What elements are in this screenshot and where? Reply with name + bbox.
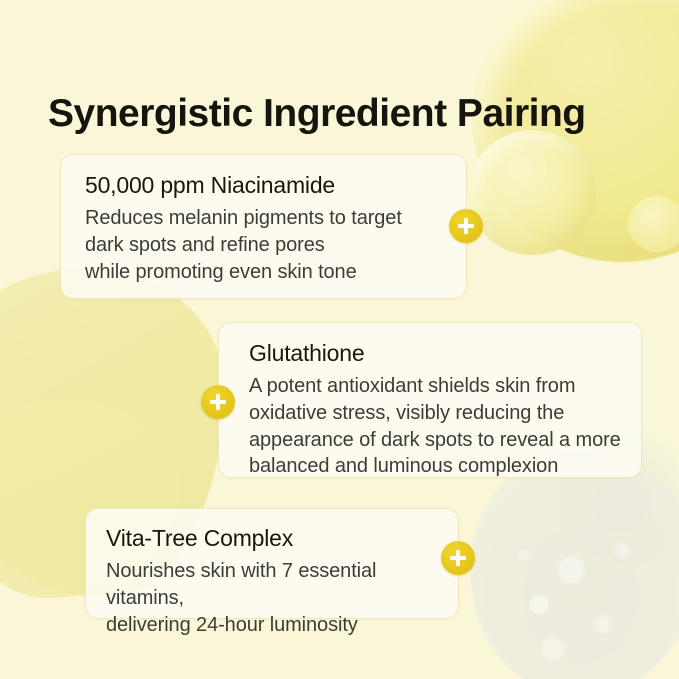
yellow-droplet-blob-medium <box>468 130 596 255</box>
ingredient-card-glutathione: Glutathione A potent antioxidant shields… <box>218 322 642 478</box>
infographic-poster: Synergistic Ingredient Pairing 50,000 pp… <box>0 0 679 679</box>
card-body: Nourishes skin with 7 essential vitamins… <box>106 558 440 638</box>
card-heading: Glutathione <box>249 340 623 366</box>
plus-icon <box>449 209 483 243</box>
card-heading: 50,000 ppm Niacinamide <box>85 172 448 198</box>
page-title: Synergistic Ingredient Pairing <box>48 92 586 136</box>
bubble-texture-blob <box>470 452 679 679</box>
ingredient-card-vita-tree-complex: Vita-Tree Complex Nourishes skin with 7 … <box>85 508 459 619</box>
card-body: A potent antioxidant shields skin from o… <box>249 373 623 479</box>
card-heading: Vita-Tree Complex <box>106 525 440 551</box>
card-body: Reduces melanin pigments to target dark … <box>85 205 448 285</box>
yellow-droplet-blob-small <box>628 196 679 252</box>
card-content: 50,000 ppm Niacinamide Reduces melanin p… <box>85 172 448 285</box>
ingredient-card-niacinamide: 50,000 ppm Niacinamide Reduces melanin p… <box>60 154 467 299</box>
card-content: Vita-Tree Complex Nourishes skin with 7 … <box>106 525 440 638</box>
plus-icon <box>441 541 475 575</box>
plus-icon <box>201 385 235 419</box>
card-content: Glutathione A potent antioxidant shields… <box>249 340 623 480</box>
